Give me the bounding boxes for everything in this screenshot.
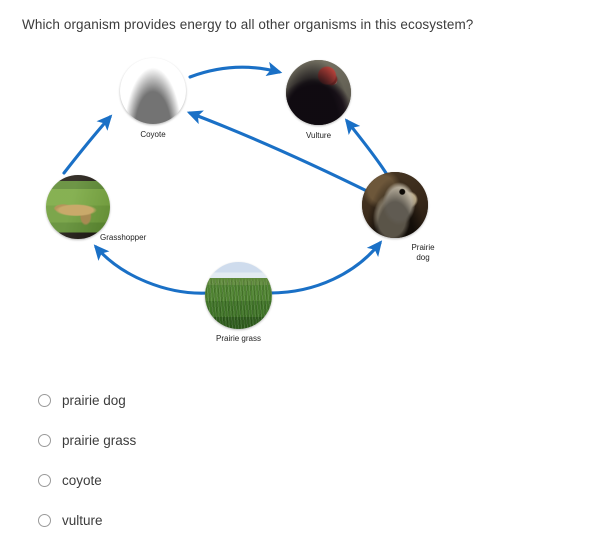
radio-button-vulture[interactable] [38,514,51,527]
answer-options: prairie dog prairie grass coyote vulture [0,380,606,540]
node-label-coyote: Coyote [120,130,186,140]
node-prairie-grass[interactable]: Prairie grass [205,262,272,329]
option-row-3[interactable]: vulture [0,500,606,540]
radio-button-prairie-dog[interactable] [38,394,51,407]
node-label-prairie-dog-line1: Prairie [400,243,446,253]
prairie-grass-image [205,262,272,329]
node-label-prairie-dog-line2: dog [400,253,446,263]
option-label-vulture: vulture [62,513,103,528]
radio-button-coyote[interactable] [38,474,51,487]
option-label-coyote: coyote [62,473,102,488]
option-row-0[interactable]: prairie dog [0,380,606,420]
node-label-grasshopper: Grasshopper [100,233,146,243]
option-label-prairie-dog: prairie dog [62,393,126,408]
node-label-prairie-grass: Prairie grass [197,334,280,344]
radio-button-prairie-grass[interactable] [38,434,51,447]
option-row-1[interactable]: prairie grass [0,420,606,460]
node-vulture[interactable]: Vulture [286,60,351,125]
arrow-prairie-grass-to-grasshopper [96,247,208,293]
grasshopper-image [46,175,110,239]
node-grasshopper[interactable]: Grasshopper [46,175,110,239]
food-web-diagram: Coyote Vulture Grasshopper Prairie dog P… [0,45,500,355]
node-label-vulture: Vulture [286,131,351,141]
node-coyote[interactable]: Coyote [120,58,186,124]
arrow-prairie-dog-to-vulture [347,121,386,173]
option-row-2[interactable]: coyote [0,460,606,500]
question-text: Which organism provides energy to all ot… [22,17,473,32]
coyote-image [120,58,186,124]
option-label-prairie-grass: prairie grass [62,433,136,448]
node-prairie-dog[interactable]: Prairie dog [362,172,428,238]
arrow-prairie-grass-to-prairie-dog [270,243,380,293]
prairie-dog-image [362,172,428,238]
arrow-grasshopper-to-coyote [64,117,110,173]
arrow-prairie-dog-to-coyote [190,113,371,193]
arrow-coyote-to-vulture [190,67,279,77]
vulture-image [286,60,351,125]
